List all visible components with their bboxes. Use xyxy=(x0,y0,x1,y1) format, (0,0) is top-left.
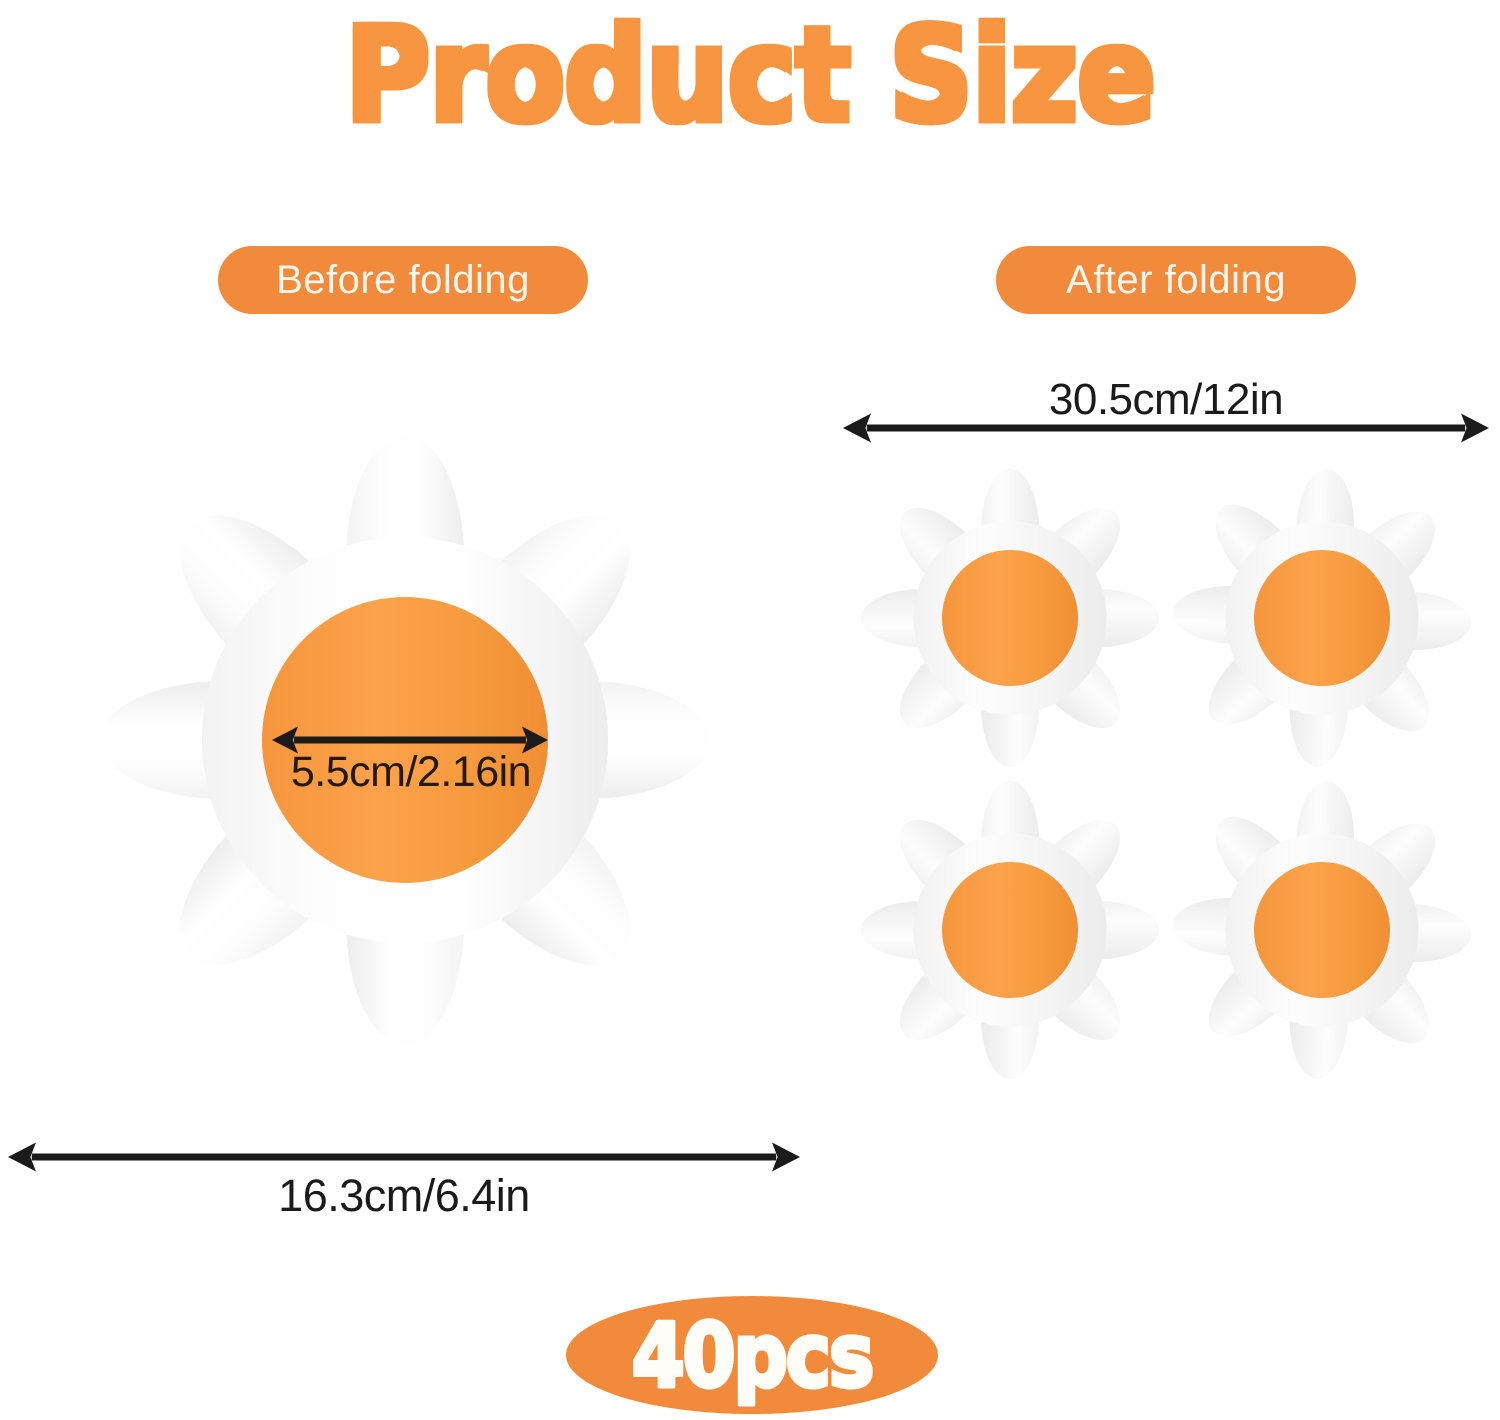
product-size-infographic: Product Size Before folding After foldin… xyxy=(0,0,1500,1420)
dimension-flower-width: 16.3cm/6.4in xyxy=(0,1170,808,1222)
dimension-folded-width: 30.5cm/12in xyxy=(843,375,1489,425)
flower xyxy=(101,436,710,1045)
flower xyxy=(1172,468,1472,768)
flower-center xyxy=(262,597,548,883)
flower-center xyxy=(1254,862,1390,998)
quantity-badge: 40pcs xyxy=(566,1296,938,1414)
flower-center xyxy=(1254,550,1390,686)
dimension-center-diameter: 5.5cm/2.16in xyxy=(272,748,550,797)
flower xyxy=(1172,780,1472,1080)
flower-center xyxy=(942,862,1078,998)
flower-folded-grid xyxy=(861,468,1472,1080)
flower-center xyxy=(942,550,1078,686)
quantity-badge-text: 40pcs xyxy=(632,1304,872,1406)
flower xyxy=(861,781,1159,1079)
flower-large xyxy=(101,436,710,1045)
flower xyxy=(861,469,1159,767)
